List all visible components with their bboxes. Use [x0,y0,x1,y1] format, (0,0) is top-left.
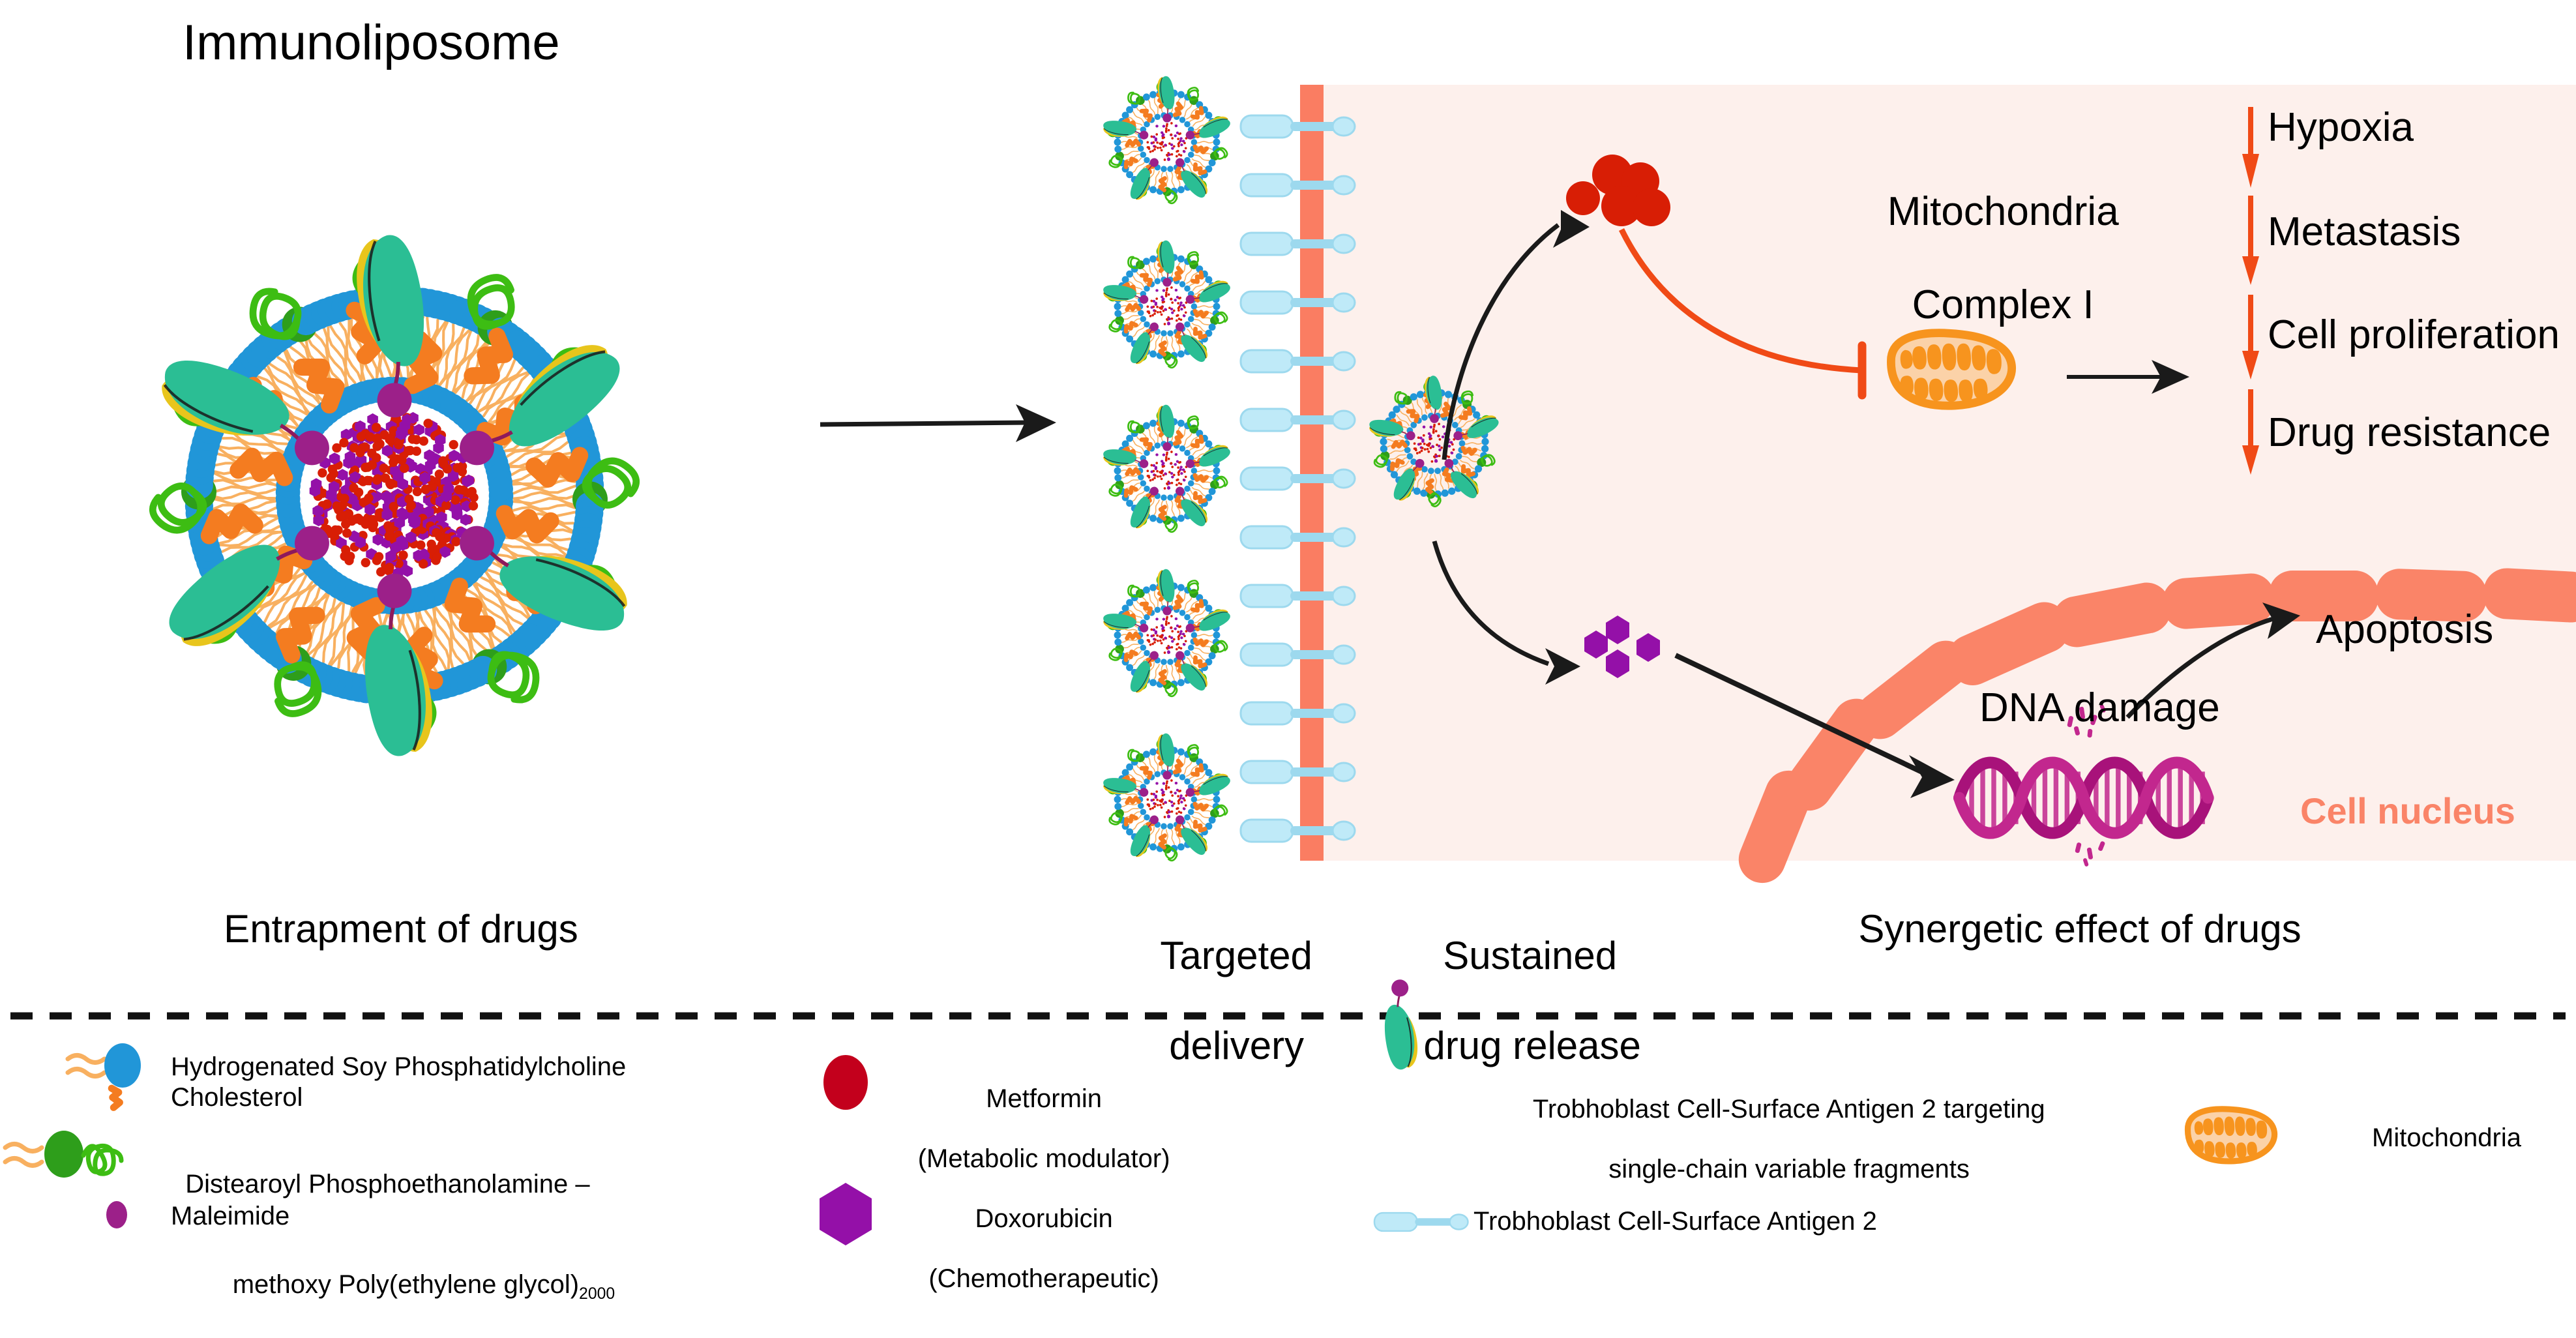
caption-sustained-line2: drug release [1423,1024,1641,1067]
legend-label-dspe-peg: Distearoyl Phosphoethanolamine – methoxy… [171,1135,615,1338]
effect-cell-proliferation: Cell proliferation [2268,312,2560,358]
legend-label-scfv: Trobhoblast Cell-Surface Antigen 2 targe… [1427,1064,2137,1184]
caption-sustained-release: Sustained drug release [1402,888,1636,1068]
metformin-icon [823,1055,868,1110]
legend-label-trop2: Trobhoblast Cell-Surface Antigen 2 [1473,1206,1877,1236]
apoptosis-label: Apoptosis [2316,606,2493,653]
immunoliposome-main [150,235,639,756]
hspc-lipid-icon [68,1043,141,1088]
legend-scfv-line2: single-chain variable fragments [1608,1155,1970,1183]
liposome-column-item [1101,405,1232,532]
process-arrow [820,404,1056,442]
legend-dspe-line2: methoxy Poly(ethylene glycol) [233,1270,579,1299]
liposome-column-item [1101,734,1232,861]
legend-label-cholesterol: Cholesterol [171,1082,303,1112]
legend-label-doxorubicin: Doxorubicin (Chemotherapeutic) [880,1174,1193,1294]
cholesterol-icon [111,1088,119,1107]
legend-dox-line2: (Chemotherapeutic) [928,1264,1159,1293]
effect-hypoxia: Hypoxia [2268,104,2414,151]
cell-nucleus-label: Cell nucleus [2300,790,2515,832]
legend-label-metformin: Metformin (Metabolic modulator) [880,1054,1193,1174]
caption-sustained-line1: Sustained [1443,934,1617,977]
legend-metformin-line2: (Metabolic modulator) [918,1144,1170,1173]
dspe-peg-icon [5,1131,121,1178]
legend-label-mitochondria: Mitochondria [2372,1123,2521,1153]
legend-label-maleimide: Maleimide [171,1201,289,1231]
caption-targeted-delivery: Targeted delivery [1128,888,1324,1068]
diagram-artwork [0,0,2576,1330]
legend-metformin-line1: Metformin [986,1084,1102,1113]
maleimide-icon [106,1201,127,1228]
mitochondria-complex-label: Mitochondria Complex I [1855,142,2129,328]
legend-label-hspc: Hydrogenated Soy Phosphatidylcholine [171,1052,626,1082]
mitochondria-label-line1: Mitochondria [1888,189,2119,234]
mitochondria-label-line2: Complex I [1912,282,2094,327]
legend-scfv-line1: Trobhoblast Cell-Surface Antigen 2 targe… [1533,1095,2045,1123]
cell-membrane [1300,85,1324,861]
liposome-column-item [1101,569,1232,696]
trop2-receptor-icon [1374,1213,1468,1231]
liposome-column-item [1101,76,1232,203]
page-title: Immunoliposome [183,14,560,71]
dna-damage-label: DNA damage [1979,685,2220,731]
legend-dspe-line1: Distearoyl Phosphoethanolamine – [185,1170,589,1198]
figure-canvas: Immunoliposome Entrapment of drugs Targe… [0,0,2576,1330]
legend-dspe-subscript: 2000 [579,1285,615,1303]
caption-targeted-line1: Targeted [1160,934,1312,977]
liposome-column [1101,76,1232,861]
mitochondria-organelle [1891,333,2011,406]
mitochondria-icon [2188,1109,2275,1161]
effect-drug-resistance: Drug resistance [2268,409,2551,456]
caption-synergetic: Synergetic effect of drugs [1786,906,2373,951]
caption-entrapment: Entrapment of drugs [189,906,613,951]
effect-metastasis: Metastasis [2268,209,2461,255]
doxorubicin-icon [820,1183,872,1245]
liposome-column-item [1101,241,1232,368]
legend-dox-line1: Doxorubicin [975,1204,1113,1233]
